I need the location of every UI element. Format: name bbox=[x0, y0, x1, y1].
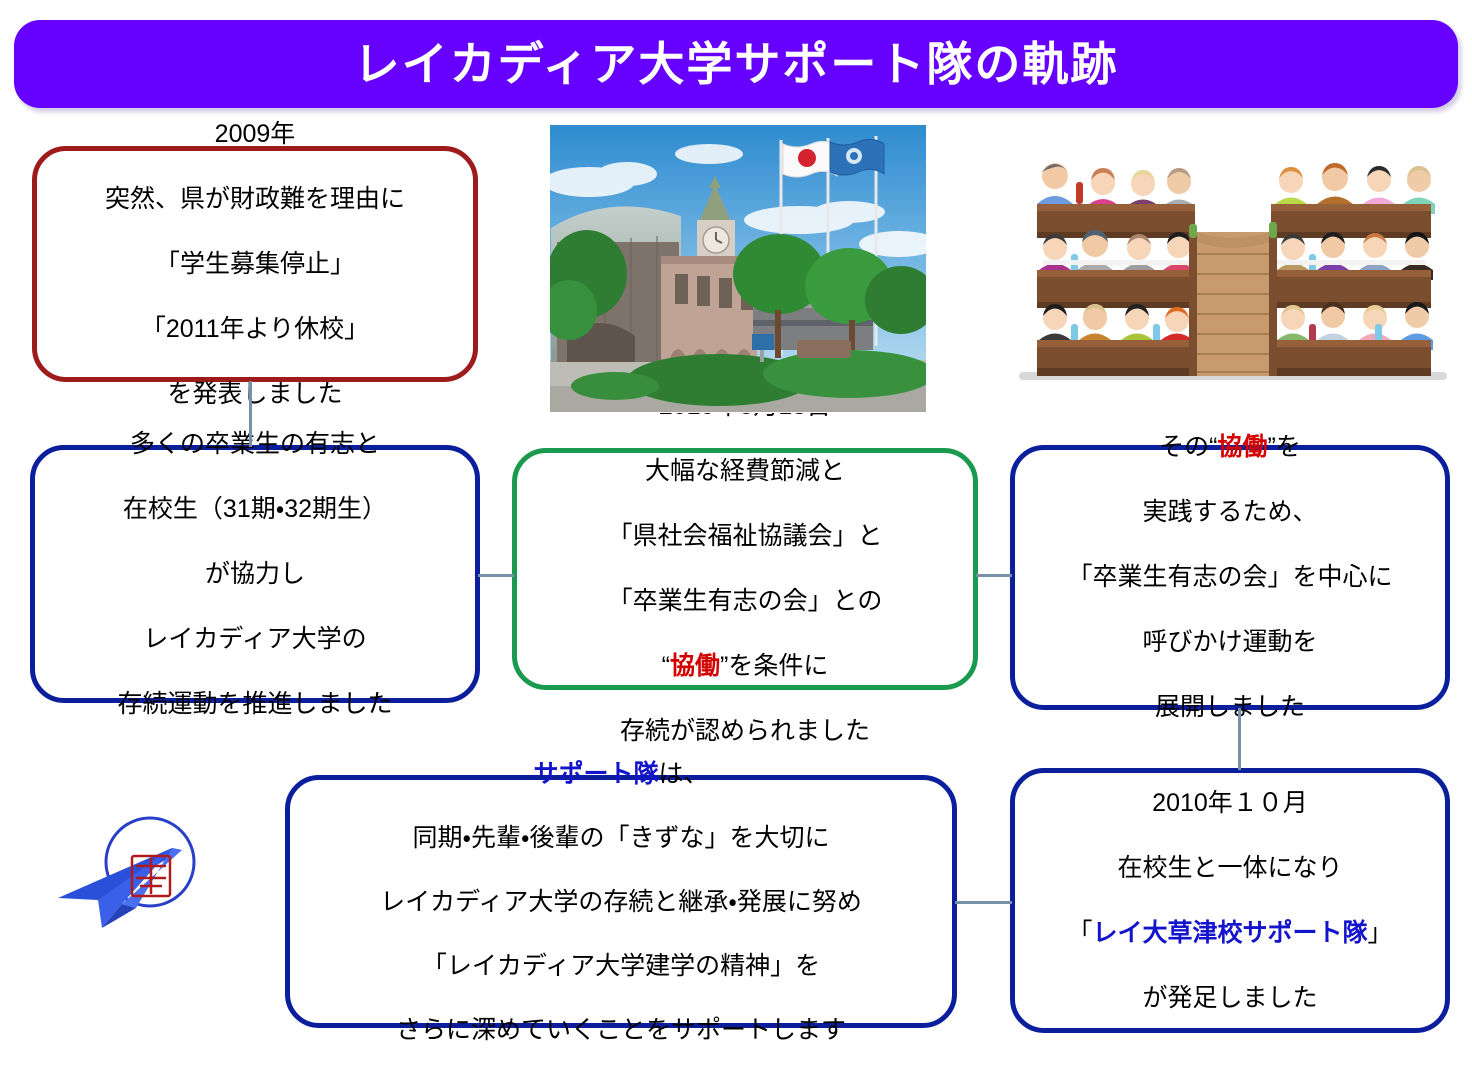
quote-close-and-rest: ”を条件に bbox=[720, 652, 828, 680]
flow-box-campaign-line-1: その“協働”を bbox=[1067, 431, 1392, 464]
flow-box-alumni-line-2: 在校生（31期・32期生） bbox=[117, 493, 392, 526]
flow-box-mission-line-3: レイカディア大学の存続と継承・発展に努め bbox=[380, 886, 862, 918]
connector-mission-to-founded bbox=[955, 901, 1012, 904]
flow-box-approval-text: 2010年5月13日 大幅な経費節減と 「県社会福祉協議会」と 「卒業生有志の会… bbox=[601, 358, 888, 781]
flow-box-approval-line-3: 「県社会福祉協議会」と bbox=[607, 520, 882, 553]
flow-box-campaign-line-3: 「卒業生有志の会」を中心に bbox=[1067, 561, 1392, 594]
flow-box-mission-line-5: さらに深めていくことをサポートします bbox=[380, 1014, 862, 1046]
flow-box-campaign-text: その“協働”を 実践するため、 「卒業生有志の会」を中心に 呼びかけ運動を 展開… bbox=[1061, 399, 1398, 757]
flow-box-founded-line-4: が発足しました bbox=[1067, 982, 1392, 1015]
flow-box-2009-announcement: 2009年 突然、県が財政難を理由に 「学生募集停止」 「2011年より休校」 … bbox=[32, 146, 478, 382]
flow-box-2009-text: 2009年 突然、県が財政難を理由に 「学生募集停止」 「2011年より休校」 … bbox=[99, 85, 411, 443]
bracket-close: 」 bbox=[1368, 919, 1393, 947]
connector-2009-to-alumni bbox=[249, 381, 252, 447]
flow-box-alumni-line-3: が協力し bbox=[117, 558, 392, 591]
flow-box-founded-line-2: 在校生と一体になり bbox=[1067, 852, 1392, 885]
lecture-hall-graphic bbox=[1013, 136, 1453, 388]
mission-line-1-rest: は、 bbox=[658, 760, 708, 788]
bracket-open: 「 bbox=[1067, 919, 1092, 947]
flow-box-alumni-movement: 多くの卒業生の有志と 在校生（31期・32期生） が協力し レイカディア大学の … bbox=[30, 445, 480, 703]
flow-box-2009-line-4: 「2011年より休校」 bbox=[105, 313, 405, 346]
flow-box-alumni-line-4: レイカディア大学の bbox=[117, 623, 392, 656]
connector-campaign-to-founded bbox=[1238, 708, 1241, 770]
page-title: レイカディア大学サポート隊の軌跡 bbox=[354, 41, 1119, 87]
flow-box-approval-line-2: 大幅な経費節減と bbox=[607, 455, 882, 488]
flow-box-mission-line-1: サポート隊は、 bbox=[380, 758, 862, 790]
quote-open: “ bbox=[662, 652, 670, 680]
campaign-quote-open: その“ bbox=[1159, 433, 1217, 461]
flow-box-founded-line-3: 「レイ大草津校サポート隊」 bbox=[1067, 917, 1392, 950]
university-logo bbox=[40, 800, 240, 950]
flow-box-campaign-line-2: 実践するため、 bbox=[1067, 496, 1392, 529]
flow-box-mission-line-4: 「レイカディア大学建学の精神」を bbox=[380, 950, 862, 982]
connector-approval-to-campaign bbox=[976, 574, 1012, 577]
flow-box-mission-line-2: 同期・先輩・後輩の「きずな」を大切に bbox=[380, 822, 862, 854]
campus-photo-graphic bbox=[549, 124, 927, 413]
lecture-hall-illustration bbox=[1013, 136, 1453, 388]
flow-box-alumni-line-5: 存続運動を推進しました bbox=[117, 688, 392, 721]
flow-box-alumni-text: 多くの卒業生の有志と 在校生（31期・32期生） が協力し レイカディア大学の … bbox=[111, 395, 398, 753]
flow-box-mission: サポート隊は、 同期・先輩・後輩の「きずな」を大切に レイカディア大学の存続と継… bbox=[285, 775, 957, 1028]
flow-box-team-founded-text: 2010年１０月 在校生と一体になり 「レイ大草津校サポート隊」 が発足しました bbox=[1061, 754, 1398, 1047]
flow-box-team-founded: 2010年１０月 在校生と一体になり 「レイ大草津校サポート隊」 が発足しました bbox=[1010, 768, 1450, 1033]
connector-alumni-to-approval bbox=[478, 574, 514, 577]
flow-box-approval-line-4: 「卒業生有志の会」との bbox=[607, 585, 882, 618]
support-team-highlight: サポート隊 bbox=[533, 760, 658, 788]
flow-box-2009-line-3: 「学生募集停止」 bbox=[105, 248, 405, 281]
flow-box-campaign-line-5: 展開しました bbox=[1067, 691, 1392, 724]
kyodo-highlight: 協働 bbox=[1217, 433, 1267, 461]
flow-box-founded-line-1: 2010年１０月 bbox=[1067, 787, 1392, 820]
flow-box-campaign-line-4: 呼びかけ運動を bbox=[1067, 626, 1392, 659]
flow-box-2009-line-2: 突然、県が財政難を理由に bbox=[105, 183, 405, 216]
flow-box-2009-line-1: 2009年 bbox=[105, 118, 405, 151]
campaign-quote-close: ”を bbox=[1268, 433, 1301, 461]
team-name-highlight: レイ大草津校サポート隊 bbox=[1092, 919, 1367, 947]
kyodo-highlight: 協働 bbox=[670, 652, 720, 680]
flow-box-campaign: その“協働”を 実践するため、 「卒業生有志の会」を中心に 呼びかけ運動を 展開… bbox=[1010, 445, 1450, 710]
flow-box-approval-line-5: “協働”を条件に bbox=[607, 650, 882, 683]
flow-box-alumni-line-1: 多くの卒業生の有志と bbox=[117, 428, 392, 461]
university-logo-graphic bbox=[40, 800, 240, 950]
flow-box-approval: 2010年5月13日 大幅な経費節減と 「県社会福祉協議会」と 「卒業生有志の会… bbox=[512, 448, 978, 690]
campus-building-photo bbox=[549, 124, 927, 413]
flow-box-mission-text: サポート隊は、 同期・先輩・後輩の「きずな」を大切に レイカディア大学の存続と継… bbox=[374, 726, 868, 1078]
